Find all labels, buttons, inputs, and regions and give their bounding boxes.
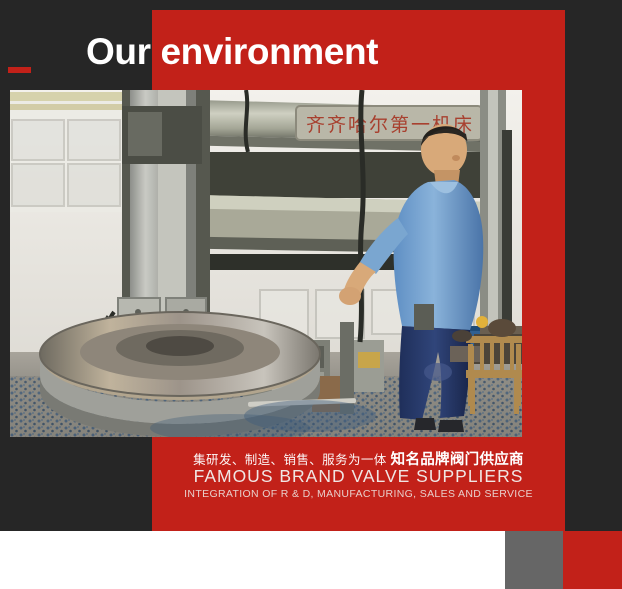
caption-english-sub: INTEGRATION OF R & D, MANUFACTURING, SAL… bbox=[152, 488, 565, 500]
caption-block: 集研发、制造、销售、服务为一体知名品牌阀门供应商 FAMOUS BRAND VA… bbox=[152, 444, 565, 519]
caption-chinese-thin: 集研发、制造、销售、服务为一体 bbox=[193, 453, 387, 467]
factory-workshop-photo: 齐齐哈尔第一机床 bbox=[10, 90, 522, 437]
page-root: Our environment bbox=[0, 0, 622, 589]
red-accent-square bbox=[563, 531, 622, 589]
right-dark-column bbox=[565, 0, 622, 531]
photo-artwork: 齐齐哈尔第一机床 bbox=[10, 90, 522, 437]
caption-english-main: FAMOUS BRAND VALVE SUPPLIERS bbox=[152, 466, 565, 487]
red-dash-accent bbox=[8, 67, 31, 73]
page-title: Our environment bbox=[86, 26, 556, 78]
gray-accent-square bbox=[505, 531, 563, 589]
